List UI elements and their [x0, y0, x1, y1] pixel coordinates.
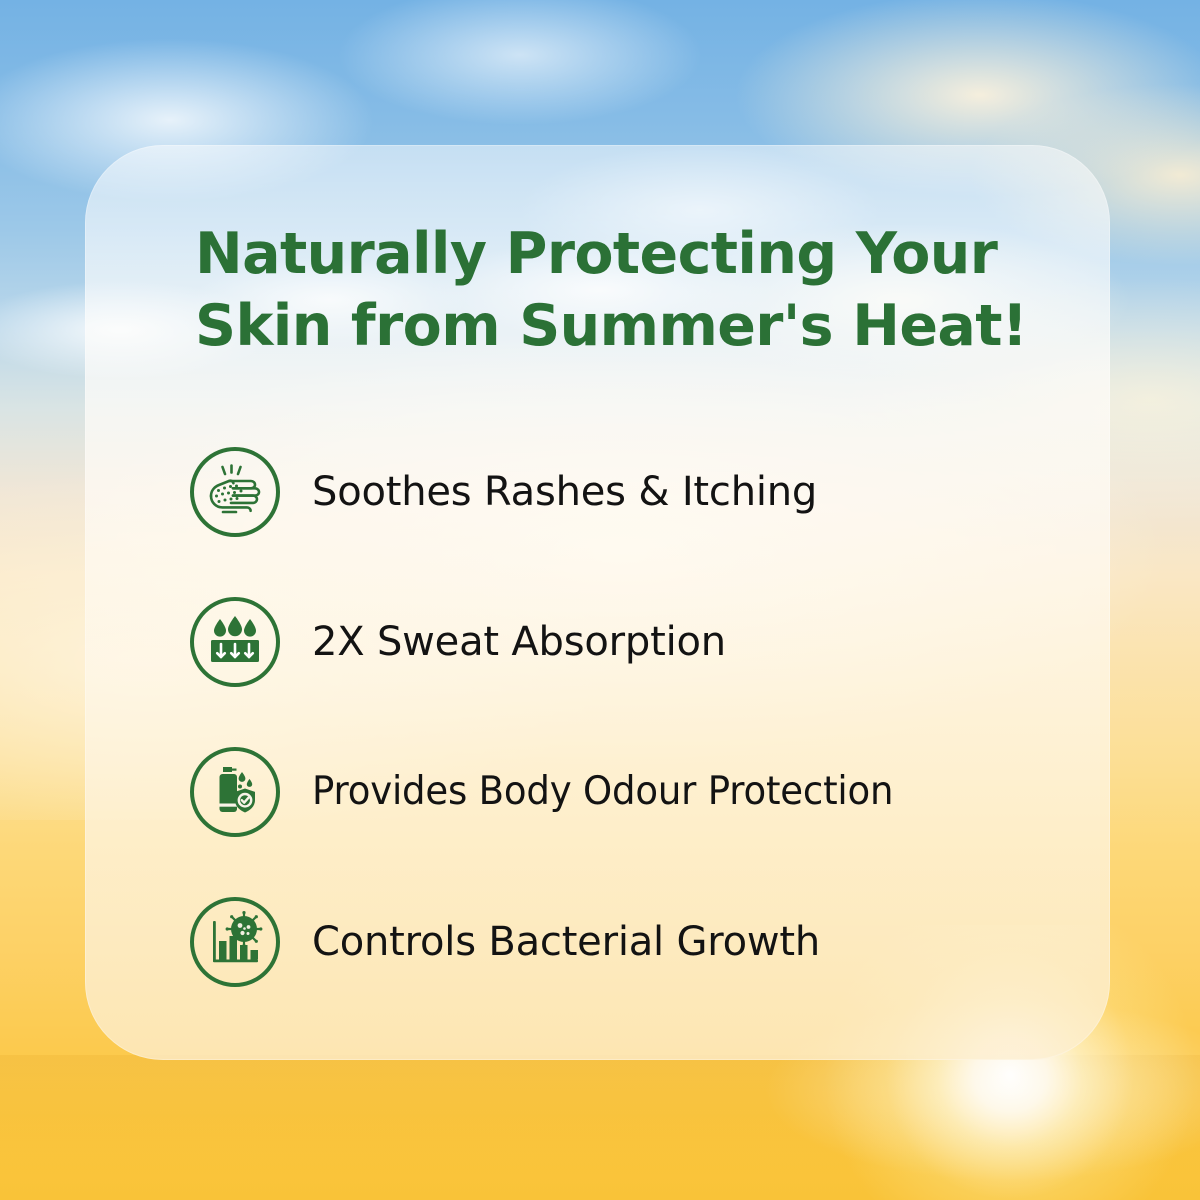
list-item-label: Soothes Rashes & Itching [312, 468, 817, 516]
spray-shield-icon [190, 747, 280, 837]
page-title: Naturally Protecting Your Skin from Summ… [195, 218, 1065, 362]
list-item-label: Provides Body Odour Protection [312, 768, 893, 816]
list-item: Soothes Rashes & Itching [190, 417, 1090, 567]
feature-list: Soothes Rashes & Itching [190, 417, 1090, 1017]
list-item-label: Controls Bacterial Growth [312, 918, 820, 966]
rash-hand-icon [190, 447, 280, 537]
promo-banner: Naturally Protecting Your Skin from Summ… [0, 0, 1200, 1200]
content-region: Naturally Protecting Your Skin from Summ… [85, 145, 1110, 1060]
bacteria-chart-icon [190, 897, 280, 987]
list-item: Controls Bacterial Growth [190, 867, 1090, 1017]
list-item: 2X Sweat Absorption [190, 567, 1090, 717]
page-title-line-2: Skin from Summer's Heat! [195, 290, 1065, 362]
list-item: Provides Body Odour Protection [190, 717, 1090, 867]
sweat-absorption-icon [190, 597, 280, 687]
page-title-line-1: Naturally Protecting Your [195, 218, 1065, 290]
list-item-label: 2X Sweat Absorption [312, 618, 726, 666]
